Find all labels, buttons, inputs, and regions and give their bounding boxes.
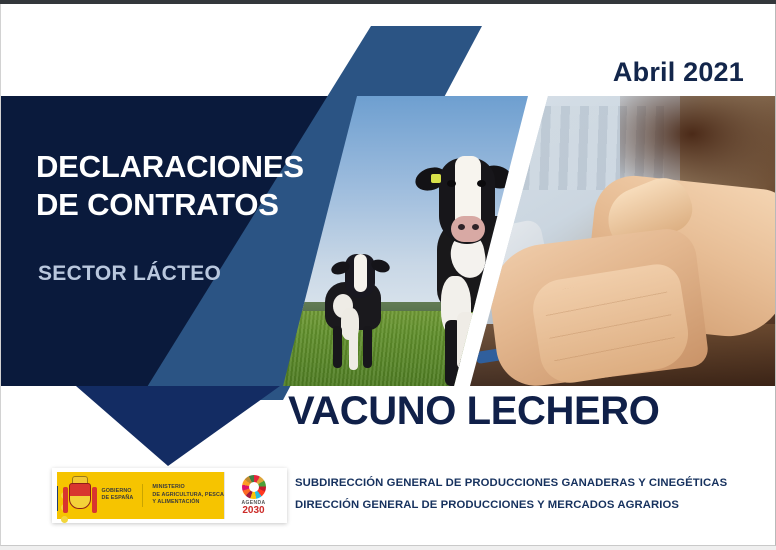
agenda-2030-logo: AGENDA 2030	[224, 472, 282, 519]
agenda-year-label: 2030	[242, 506, 264, 516]
footer: GOBIERNO DE ESPAÑA MINISTERIO DE AGRICUL…	[0, 468, 776, 532]
viewer-top-bar	[0, 0, 776, 4]
gobierno-de-espana-logo: GOBIERNO DE ESPAÑA MINISTERIO DE AGRICUL…	[52, 468, 287, 523]
sdg-wheel-icon	[242, 475, 266, 499]
footer-line-1: SUBDIRECCIÓN GENERAL DE PRODUCCIONES GAN…	[295, 472, 727, 494]
headline-line-1: DECLARACIONES	[36, 148, 304, 186]
ministerio-line-3: Y ALIMENTACIÓN	[152, 499, 224, 506]
gobierno-text: GOBIERNO DE ESPAÑA	[97, 488, 142, 503]
subtitle: SECTOR LÁCTEO	[38, 262, 221, 286]
footer-line-2: DIRECCIÓN GENERAL DE PRODUCCIONES Y MERC…	[295, 494, 727, 516]
cover-page: Abril 2021 DECLARACIONES DE CONTRATOS SE…	[0, 0, 776, 550]
viewer-bottom-strip	[0, 546, 776, 550]
headline-line-2: DE CONTRATOS	[36, 186, 304, 224]
calf-figure	[323, 246, 389, 376]
logo-yellow-band: GOBIERNO DE ESPAÑA MINISTERIO DE AGRICUL…	[57, 472, 224, 519]
page-title: DECLARACIONES DE CONTRATOS	[36, 148, 304, 224]
main-title: VACUNO LECHERO	[288, 389, 659, 434]
gobierno-line-2: DE ESPAÑA	[101, 495, 133, 502]
footer-department-text: SUBDIRECCIÓN GENERAL DE PRODUCCIONES GAN…	[295, 472, 727, 516]
ministerio-line-1: MINISTERIO	[152, 484, 224, 491]
coat-of-arms-icon	[63, 475, 97, 517]
cover-date: Abril 2021	[613, 57, 744, 88]
ministerio-text: MINISTERIO DE AGRICULTURA, PESCA Y ALIME…	[142, 484, 224, 506]
